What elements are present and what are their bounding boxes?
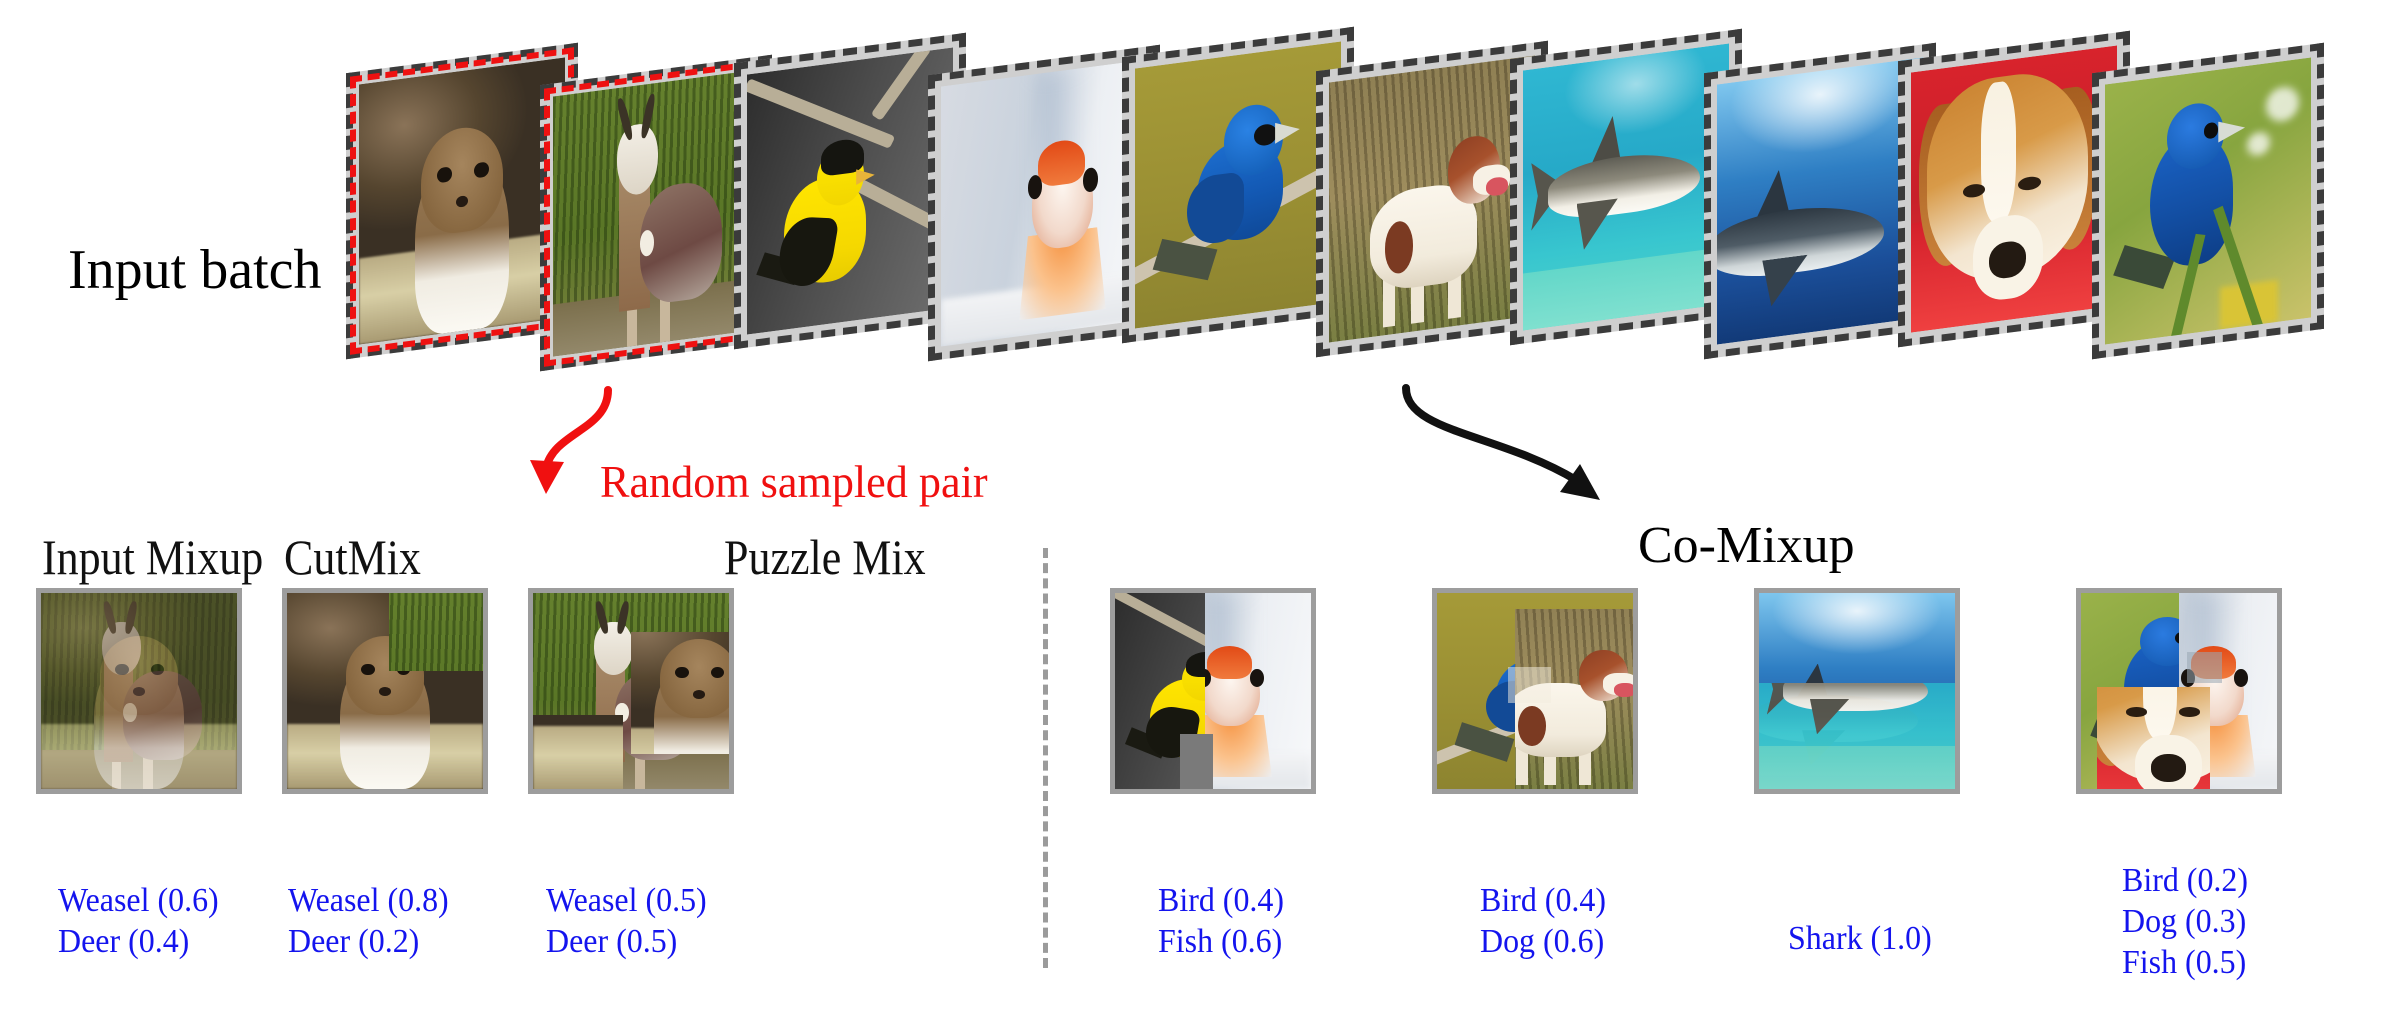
bunting-dog-goldfish	[2081, 593, 2277, 789]
caption-line: Dog (0.3)	[2122, 901, 2248, 942]
caption-puzzle-mix: Weasel (0.5) Deer (0.5)	[546, 880, 717, 962]
caption-comixup-3: Shark (1.0)	[1788, 918, 1941, 959]
deer-photo	[553, 69, 759, 356]
weasel-with-grass-patch	[287, 593, 483, 789]
caption-line: Bird (0.4)	[1158, 880, 1284, 921]
caption-line: Weasel (0.5)	[546, 880, 707, 921]
shark-deep-photo	[1717, 57, 1923, 344]
weasel-deer-saliency-mix	[533, 593, 729, 789]
output-tile-comixup-3[interactable]	[1754, 588, 1960, 794]
caption-line: Shark (1.0)	[1788, 918, 1932, 959]
method-label-comixup: Co-Mixup	[1638, 516, 1855, 575]
shark-shallow-photo	[1523, 43, 1729, 330]
output-tile-input-mixup[interactable]	[36, 588, 242, 794]
caption-cutmix: Weasel (0.8) Deer (0.2)	[288, 880, 459, 962]
weasel-photo	[359, 57, 565, 344]
card-frame	[2092, 43, 2324, 360]
caption-line: Dog (0.6)	[1480, 921, 1606, 962]
blue-bunting-photo	[1135, 41, 1341, 328]
beagle-photo	[1911, 45, 2117, 332]
caption-comixup-1: Bird (0.4) Fish (0.6)	[1158, 880, 1292, 962]
input-batch-label: Input batch	[68, 238, 321, 302]
caption-comixup-4: Bird (0.2) Dog (0.3) Fish (0.5)	[2122, 860, 2256, 983]
output-tile-cutmix[interactable]	[282, 588, 488, 794]
puzzlemix-weasel-region	[631, 632, 729, 754]
weasel-deer-alpha-blend	[41, 593, 237, 789]
indigo-bunting-photo	[2105, 57, 2311, 344]
shark-only	[1759, 593, 1955, 789]
mix-block	[2187, 652, 2222, 683]
figure-canvas: Input batch	[0, 0, 2402, 1012]
output-tile-comixup-2[interactable]	[1432, 588, 1638, 794]
output-tile-comixup-1[interactable]	[1110, 588, 1316, 794]
comixup-arrow-icon	[1400, 388, 1640, 528]
output-tile-puzzle-mix[interactable]	[528, 588, 734, 794]
caption-line: Bird (0.2)	[2122, 860, 2248, 901]
cutmix-pasted-patch	[389, 593, 483, 671]
caption-line: Deer (0.4)	[58, 921, 219, 962]
method-label-input-mixup: Input Mixup	[42, 528, 263, 586]
caption-line: Bird (0.4)	[1480, 880, 1606, 921]
shark-lower-region	[1759, 683, 1955, 789]
goldfinch-and-goldfish	[1115, 593, 1311, 789]
caption-line: Weasel (0.8)	[288, 880, 449, 921]
random-sampled-pair-label: Random sampled pair	[600, 455, 988, 508]
output-tile-comixup-4[interactable]	[2076, 588, 2282, 794]
caption-comixup-2: Bird (0.4) Dog (0.6)	[1480, 880, 1614, 962]
dog-region	[2097, 687, 2211, 789]
dog-photo	[1329, 55, 1535, 342]
goldfinch-photo	[747, 47, 953, 334]
mix-block	[1508, 667, 1551, 702]
caption-line: Weasel (0.6)	[58, 880, 219, 921]
caption-input-mixup: Weasel (0.6) Deer (0.4)	[58, 880, 229, 962]
section-divider	[1043, 548, 1048, 968]
mix-block	[1180, 734, 1213, 789]
goldfish-photo	[941, 59, 1147, 346]
method-label-cutmix: CutMix	[284, 528, 421, 586]
bunting-and-dog	[1437, 593, 1633, 789]
puzzlemix-ground-region	[533, 715, 623, 789]
method-label-puzzle-mix: Puzzle Mix	[724, 528, 926, 586]
caption-line: Deer (0.5)	[546, 921, 707, 962]
caption-line: Deer (0.2)	[288, 921, 449, 962]
input-card-indigo-bunting[interactable]	[2092, 43, 2324, 360]
caption-line: Fish (0.5)	[2122, 942, 2248, 983]
caption-line: Fish (0.6)	[1158, 921, 1284, 962]
